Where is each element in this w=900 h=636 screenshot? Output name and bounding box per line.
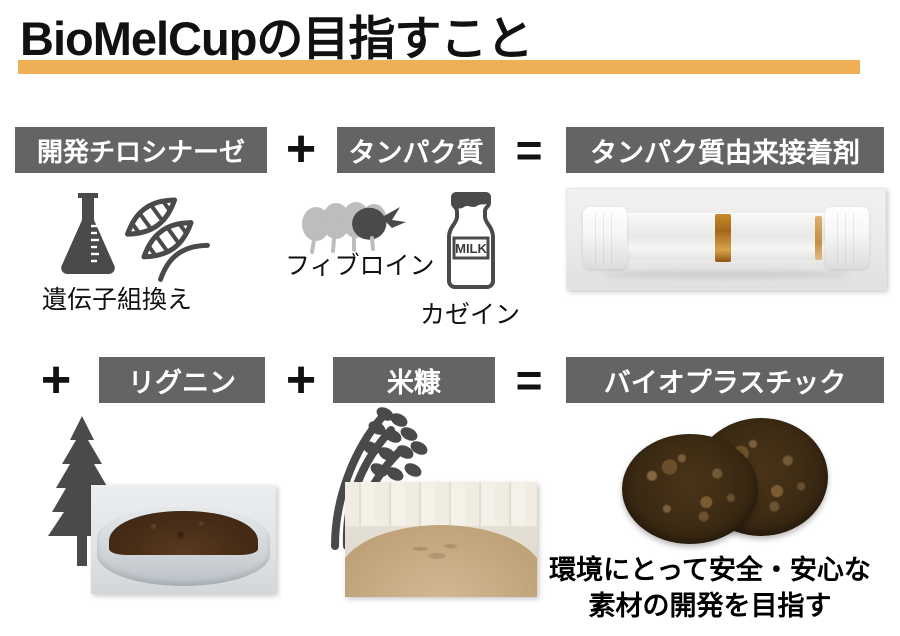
chip-rice-bran[interactable]: 米糠: [333, 357, 495, 403]
photo-rice-bran: [345, 482, 537, 597]
caption-fibroin: フィブロイン: [285, 254, 435, 279]
operator-plus-2: +: [30, 355, 82, 405]
milk-bottle-label: MILK: [455, 241, 487, 256]
silkworm-icon: [300, 196, 426, 258]
operator-equals-1: =: [500, 126, 558, 174]
bioplastic-disc-front: [622, 434, 758, 544]
operator-plus-1: +: [275, 124, 327, 174]
operator-equals-2: =: [500, 357, 558, 403]
photo-adhesive-vial: [566, 188, 886, 290]
conclusion-text: 環境にとって安全・安心な 素材の開発を目指す: [530, 552, 890, 624]
conclusion-line-2: 素材の開発を目指す: [530, 588, 890, 624]
milk-bottle-icon: MILK: [440, 188, 502, 292]
chip-bioplastic[interactable]: バイオプラスチック: [566, 357, 884, 403]
dna-helix-icon: [122, 192, 222, 276]
photo-bioplastic-discs: [598, 412, 876, 544]
chip-lignin[interactable]: リグニン: [99, 357, 265, 403]
operator-plus-3: +: [275, 355, 327, 405]
title-underline-bar: [18, 60, 860, 74]
conclusion-line-1: 環境にとって安全・安心な: [530, 552, 890, 588]
caption-casein: カゼイン: [420, 303, 520, 328]
erlenmeyer-flask-icon: [52, 190, 124, 276]
photo-lignin-powder: [91, 485, 276, 594]
chip-protein[interactable]: タンパク質: [337, 127, 495, 173]
caption-genetic-recombination: 遺伝子組換え: [42, 288, 192, 313]
chip-tyrosinase[interactable]: 開発チロシナーゼ: [15, 127, 267, 173]
chip-protein-derived-adhesive[interactable]: タンパク質由来接着剤: [566, 127, 884, 173]
